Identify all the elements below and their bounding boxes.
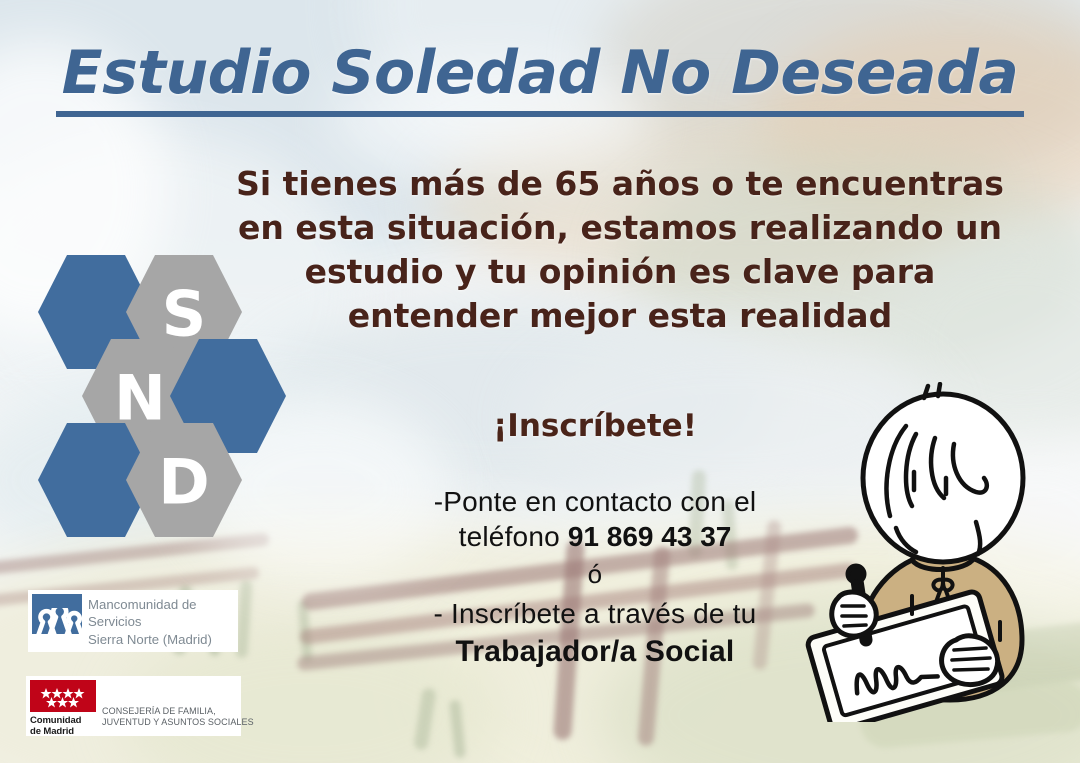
cta-headline: ¡Inscríbete! — [380, 408, 810, 444]
three-people-icon — [30, 608, 88, 650]
snd-letter-n: N — [114, 362, 166, 435]
comunidad-madrid-name-line-2: de Madrid — [30, 726, 96, 737]
mancomunidad-mark — [32, 594, 84, 650]
contact-block: -Ponte en contacto con el teléfono 91 86… — [372, 485, 818, 671]
lead-paragraph: Si tienes más de 65 años o te encuentras… — [236, 162, 1004, 338]
comunidad-madrid-name: Comunidad de Madrid — [30, 715, 96, 737]
mancomunidad-line-2: Servicios — [88, 613, 212, 630]
title-container: Estudio Soledad No Deseada — [0, 42, 1080, 117]
hair-tuft-2 — [938, 384, 940, 396]
comunidad-madrid-mark: Comunidad de Madrid — [26, 676, 96, 736]
snd-logo: S N D — [28, 246, 290, 546]
comunidad-madrid-logo: Comunidad de Madrid CONSEJERÍA DE FAMILI… — [26, 676, 241, 736]
contact-line-2: teléfono 91 869 43 37 — [372, 520, 818, 555]
phone-number[interactable]: 91 869 43 37 — [568, 521, 732, 552]
contact-line-1: -Ponte en contacto con el — [372, 485, 818, 520]
right-hand — [942, 636, 998, 685]
mancomunidad-logo: Mancomunidad de Servicios Sierra Norte (… — [28, 590, 238, 652]
contact-or: ó — [372, 558, 818, 590]
snd-letter-d: D — [158, 446, 209, 519]
seven-stars-icon — [30, 680, 96, 712]
mancomunidad-line-3: Sierra Norte (Madrid) — [88, 631, 212, 648]
left-hand — [832, 592, 876, 636]
lead-line-2: en esta situación, estamos realizando un — [236, 206, 1004, 250]
person-writing-illustration — [804, 382, 1080, 722]
phone-label: teléfono — [459, 521, 568, 552]
consejeria-text: CONSEJERÍA DE FAMILIA, JUVENTUD Y ASUNTO… — [102, 706, 254, 736]
madrid-flag-square — [30, 680, 96, 712]
lead-line-4: entender mejor esta realidad — [236, 294, 1004, 338]
contact-line-3: - Inscríbete a través de tu — [372, 597, 818, 632]
comunidad-madrid-name-line-1: Comunidad — [30, 715, 96, 726]
lead-line-1: Si tienes más de 65 años o te encuentras — [236, 162, 1004, 206]
contact-line-4: Trabajador/a Social — [372, 633, 818, 670]
poster-canvas: Estudio Soledad No Deseada Si tienes más… — [0, 0, 1080, 763]
page-title: Estudio Soledad No Deseada — [56, 42, 1025, 117]
mancomunidad-line-1: Mancomunidad de — [88, 596, 212, 613]
lead-line-3: estudio y tu opinión es clave para — [236, 250, 1004, 294]
snd-letter-s: S — [162, 278, 207, 351]
consejeria-line-2: JUVENTUD Y ASUNTOS SOCIALES — [102, 717, 254, 729]
mancomunidad-text: Mancomunidad de Servicios Sierra Norte (… — [88, 590, 212, 648]
consejeria-line-1: CONSEJERÍA DE FAMILIA, — [102, 706, 254, 718]
